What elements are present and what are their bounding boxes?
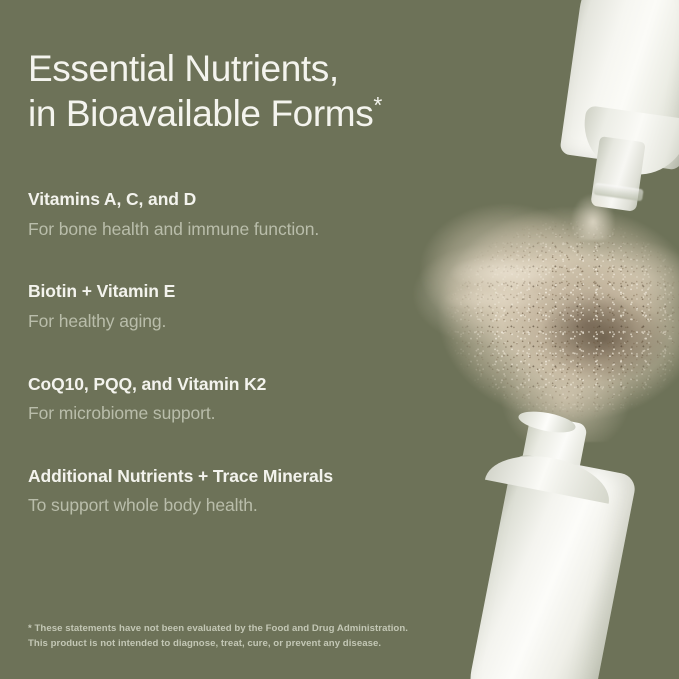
list-item: CoQ10, PQQ, and Vitamin K2 For microbiom…	[28, 373, 458, 426]
nutrient-title: CoQ10, PQQ, and Vitamin K2	[28, 373, 458, 397]
nutrient-title: Biotin + Vitamin E	[28, 280, 458, 304]
nutrient-subtitle: For microbiome support.	[28, 402, 458, 426]
page-title: Essential Nutrients, in Bioavailable For…	[28, 47, 382, 137]
disclaimer-line-2: This product is not intended to diagnose…	[28, 637, 448, 652]
nutrient-list: Vitamins A, C, and D For bone health and…	[28, 188, 458, 518]
nutrient-subtitle: For bone health and immune function.	[28, 218, 458, 242]
list-item: Additional Nutrients + Trace Minerals To…	[28, 465, 458, 518]
nutrient-subtitle: To support whole body health.	[28, 494, 458, 518]
headline-text: Essential Nutrients, in Bioavailable For…	[28, 48, 373, 134]
text-content: Essential Nutrients, in Bioavailable For…	[0, 0, 679, 679]
nutrient-title: Additional Nutrients + Trace Minerals	[28, 465, 458, 489]
list-item: Vitamins A, C, and D For bone health and…	[28, 188, 458, 241]
nutrient-title: Vitamins A, C, and D	[28, 188, 458, 212]
product-feature-image: Essential Nutrients, in Bioavailable For…	[0, 0, 679, 679]
nutrient-subtitle: For healthy aging.	[28, 310, 458, 334]
list-item: Biotin + Vitamin E For healthy aging.	[28, 280, 458, 333]
disclaimer-line-1: * These statements have not been evaluat…	[28, 622, 448, 637]
headline-footnote-marker: *	[373, 92, 382, 118]
fda-disclaimer: * These statements have not been evaluat…	[28, 622, 448, 652]
